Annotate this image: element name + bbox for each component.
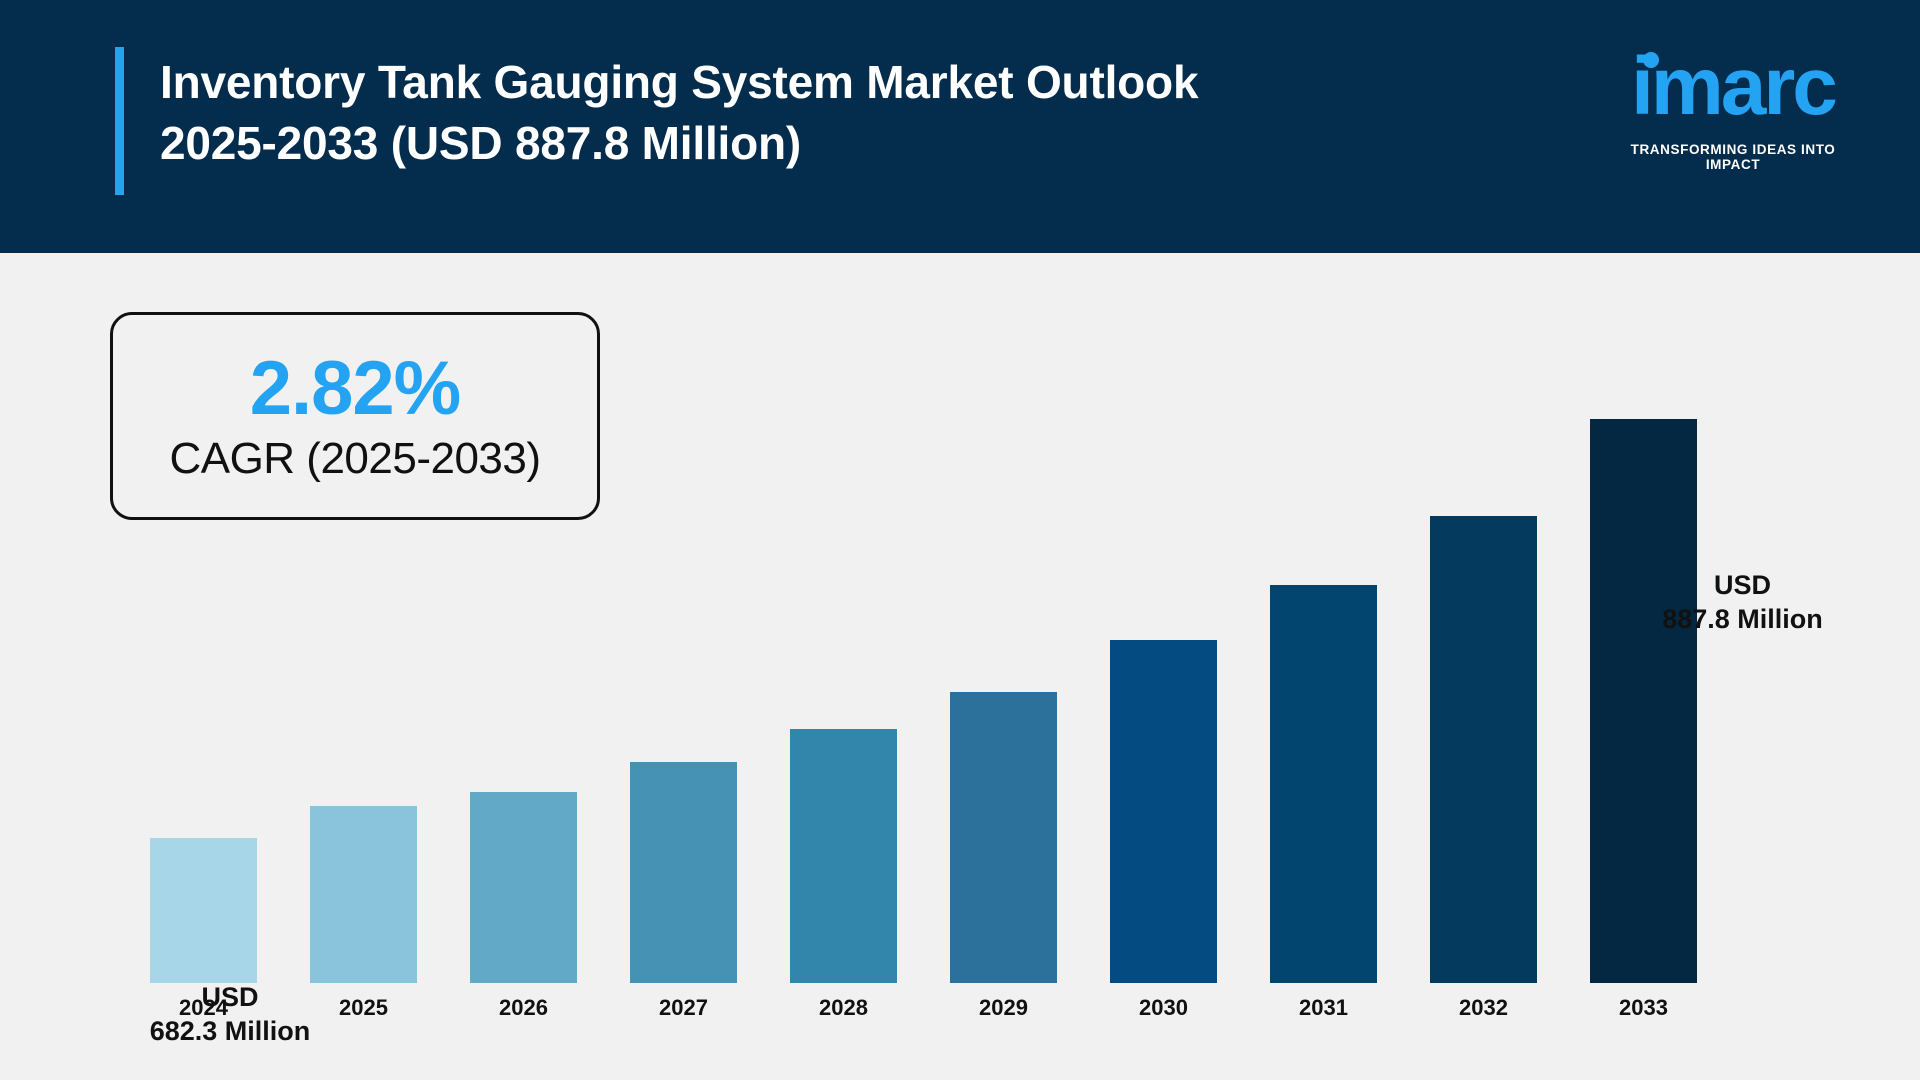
infographic-page: Inventory Tank Gauging System Market Out…: [0, 0, 1920, 1080]
callout-end-amount: 887.8 Million: [1600, 602, 1885, 636]
page-title: Inventory Tank Gauging System Market Out…: [160, 52, 1460, 173]
header-accent-bar: [115, 47, 124, 195]
page-title-line-2: 2025-2033 (USD 887.8 Million): [160, 113, 1460, 174]
bar-column-2027[interactable]: 2027: [630, 253, 737, 983]
x-axis-label-2027: 2027: [630, 995, 737, 1021]
x-axis-label-2028: 2028: [790, 995, 897, 1021]
bar-2029[interactable]: [950, 692, 1057, 983]
bar-2025[interactable]: [310, 806, 417, 983]
logo-mark: imarc: [1604, 50, 1862, 138]
bar-2033[interactable]: [1590, 419, 1697, 983]
x-axis-label-2030: 2030: [1110, 995, 1217, 1021]
logo-dot-icon: [1643, 52, 1659, 68]
bar-2031[interactable]: [1270, 585, 1377, 983]
page-title-line-1: Inventory Tank Gauging System Market Out…: [160, 52, 1460, 113]
imarc-logo: imarc TRANSFORMING IDEAS INTO IMPACT: [1604, 50, 1862, 172]
bar-column-2025[interactable]: 2025: [310, 253, 417, 983]
callout-start-amount: 682.3 Million: [100, 1014, 360, 1048]
callout-end-value: USD 887.8 Million: [1600, 568, 1885, 636]
callout-start-currency: USD: [100, 980, 360, 1014]
callout-start-value: USD 682.3 Million: [100, 980, 360, 1048]
x-axis-label-2033: 2033: [1590, 995, 1697, 1021]
logo-tagline: TRANSFORMING IDEAS INTO IMPACT: [1604, 142, 1862, 172]
bar-column-2024[interactable]: 2024: [150, 253, 257, 983]
bar-2027[interactable]: [630, 762, 737, 983]
bar-column-2028[interactable]: 2028: [790, 253, 897, 983]
bar-column-2029[interactable]: 2029: [950, 253, 1057, 983]
bar-chart-plot-area: 2024202520262027202820292030203120322033: [150, 253, 1800, 983]
bar-column-2030[interactable]: 2030: [1110, 253, 1217, 983]
bar-2030[interactable]: [1110, 640, 1217, 983]
callout-end-currency: USD: [1600, 568, 1885, 602]
bar-chart: 2024202520262027202820292030203120322033…: [0, 253, 1920, 1080]
x-axis-label-2031: 2031: [1270, 995, 1377, 1021]
bar-2028[interactable]: [790, 729, 897, 983]
header-banner: Inventory Tank Gauging System Market Out…: [0, 0, 1920, 253]
x-axis-label-2029: 2029: [950, 995, 1057, 1021]
x-axis-label-2032: 2032: [1430, 995, 1537, 1021]
x-axis-label-2026: 2026: [470, 995, 577, 1021]
bar-2032[interactable]: [1430, 516, 1537, 983]
bar-column-2026[interactable]: 2026: [470, 253, 577, 983]
bar-column-2031[interactable]: 2031: [1270, 253, 1377, 983]
bar-2024[interactable]: [150, 838, 257, 983]
bar-2026[interactable]: [470, 792, 577, 983]
bar-column-2032[interactable]: 2032: [1430, 253, 1537, 983]
